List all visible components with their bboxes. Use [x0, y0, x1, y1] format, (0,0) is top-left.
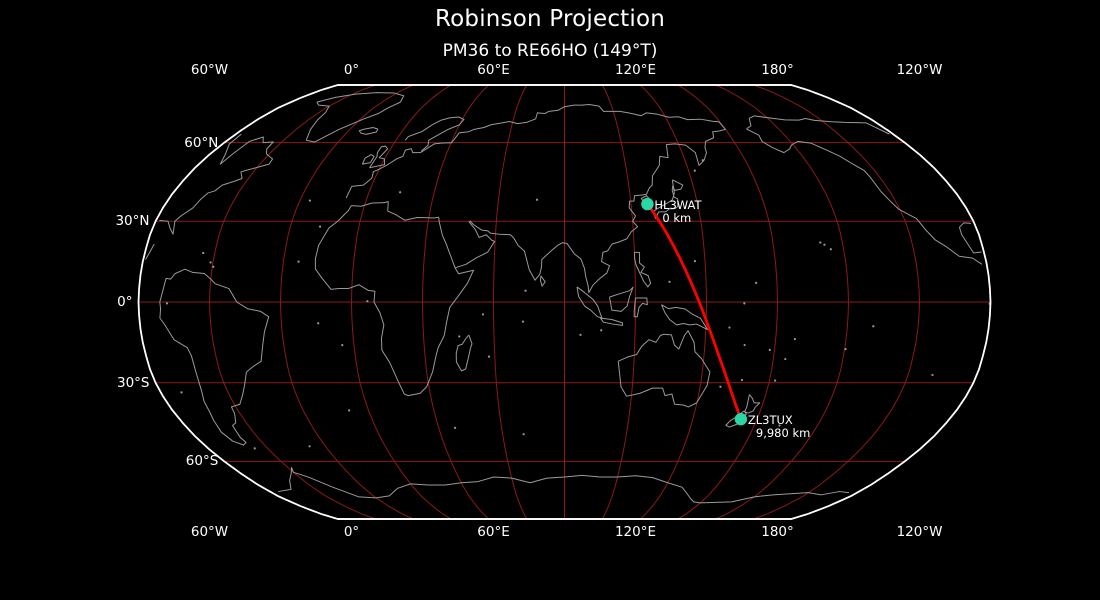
- lon-tick-top: 60°W: [191, 62, 228, 78]
- lon-tick-top: 120°E: [615, 62, 656, 78]
- great-circle-path: [647, 204, 740, 419]
- lat-tick-label: 60°N: [60, 135, 218, 151]
- lon-tick-bottom: 0°: [344, 524, 359, 540]
- destination-distance: 9,980 km: [748, 427, 810, 440]
- lat-tick-label: 60°S: [60, 453, 218, 469]
- lat-tick-label: 0°: [60, 294, 133, 310]
- destination-marker[interactable]: [735, 413, 747, 425]
- lat-tick-label: 30°N: [60, 213, 150, 229]
- origin-station-label: HL3WAT 0 km: [654, 199, 701, 225]
- lon-tick-top: 0°: [344, 62, 359, 78]
- lon-tick-bottom: 180°: [761, 524, 794, 540]
- destination-callsign: ZL3TUX: [748, 413, 793, 427]
- lon-tick-bottom: 120°W: [897, 524, 943, 540]
- origin-distance: 0 km: [654, 212, 701, 225]
- lon-tick-top: 120°W: [897, 62, 943, 78]
- origin-callsign: HL3WAT: [654, 198, 701, 212]
- map-figure: Robinson Projection PM36 to RE66HO (149°…: [0, 0, 1100, 600]
- lat-tick-label: 30°S: [60, 375, 150, 391]
- robinson-map-canvas: [0, 0, 1100, 600]
- destination-station-label: ZL3TUX 9,980 km: [748, 414, 810, 440]
- lon-tick-top: 180°: [761, 62, 794, 78]
- coastlines: [146, 93, 991, 503]
- lon-tick-bottom: 120°E: [615, 524, 656, 540]
- lon-tick-top: 60°E: [477, 62, 509, 78]
- origin-marker[interactable]: [641, 198, 653, 210]
- lon-tick-bottom: 60°W: [191, 524, 228, 540]
- lon-tick-bottom: 60°E: [477, 524, 509, 540]
